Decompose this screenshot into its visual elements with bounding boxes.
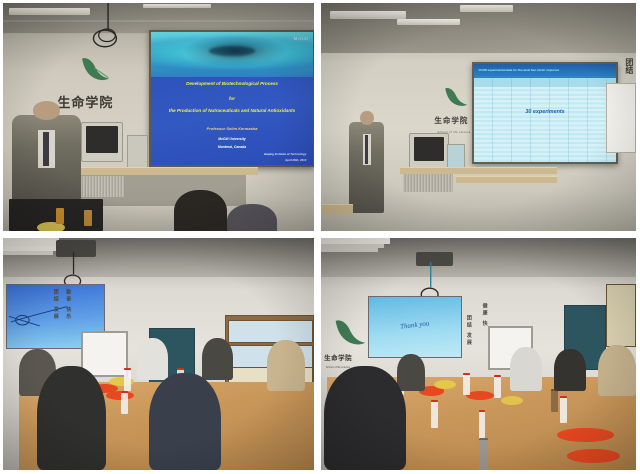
slide-title-line2: for [151,96,313,102]
foreground-participant [37,366,105,470]
wall-sign-chinese: 生命学院 [434,115,468,126]
front-table [59,167,258,175]
ceiling-lamp [321,248,378,252]
ceiling-lamp [460,5,514,12]
wall-banner-left: 团结 发展 [466,315,473,347]
hanging-cable [78,3,134,76]
seated-participant [554,349,586,391]
water-bottle [560,396,567,424]
projection-screen-title-slide: McGill Development of Biotechnological P… [149,30,314,166]
drink-bottle [56,208,64,224]
water-bottle [124,368,131,391]
lecturer-head [360,111,374,126]
ceiling [321,238,636,277]
wall-sign-chinese: 生命学院 [57,92,113,111]
front-table [400,167,558,174]
school-bird-logo [327,317,371,349]
water-bottle [121,391,128,414]
photo-meeting-room-thank-you: Thank you 生命学院 School of life science 健康… [321,238,636,470]
lecturer-figure [349,122,384,213]
fruit-plate [501,396,523,405]
slide-thank-you-text: Thank you [369,316,461,335]
ceiling [3,238,314,277]
water-bottle [463,373,470,396]
collage-panel-bottom-left: 勤奋 快乐 团结 发展 [0,234,317,474]
ceiling-lamp [143,4,211,9]
foreground-participant [324,366,406,470]
whiteboard [606,83,636,153]
water-bottle [494,375,501,398]
collage-panel-bottom-right: Thank you 生命学院 School of life science 健康… [317,234,640,474]
slide-location: Montreal, Canada [151,145,313,149]
ceiling-lamp [3,251,53,255]
seated-participant [202,338,233,380]
side-desk [321,204,353,214]
slide-date: April 26th, 2013 [285,158,306,162]
audience-member [174,190,227,231]
wall-banner-right: 勤奋 快乐 [65,289,72,321]
audience-member [227,204,277,231]
radiator [403,174,453,192]
foreground-participant [149,373,221,470]
slide-ripple-graphic [151,32,313,77]
seated-participant [137,338,168,380]
wall-banner-left: 团结 发展 [53,289,60,321]
wall-poster [606,284,636,346]
ceiling-lamp [330,11,406,19]
lecturer-tie [365,135,368,164]
ceiling-lamp [3,238,59,246]
collage-panel-top-left: 生命学院 School of life science McGill Devel… [0,0,317,234]
photo-lecture-title-slide: 生命学院 School of life science McGill Devel… [3,3,314,231]
photo-lecture-data-slide: 生命学院 School of life science CCRD experim… [321,3,636,231]
slide-title-line3: the Production of Nutraceuticals and Nat… [151,108,313,114]
school-bird-logo [441,85,469,110]
ceiling [321,3,636,53]
seated-participant [598,345,636,396]
seated-participant [510,347,542,391]
thermos [479,438,488,470]
slide-title-line1: Development of Biotechnological Process [151,81,313,87]
slide-venue: Beijing Institute of Technology [264,152,306,156]
slide-header-text: CCRD experimental data for five-level fo… [478,68,559,72]
mcgill-logo: McGill [294,36,308,41]
ceiling [3,3,314,33]
crt-monitor [81,122,123,163]
thermos [551,389,558,412]
wall-sign-english: School of life science [326,366,350,369]
projection-screen-data-slide: CCRD experimental data for five-level fo… [472,62,618,164]
ceiling-lamp [397,19,460,25]
fruit-plate [434,380,456,389]
wall-sign-chinese: 生命学院 [324,352,352,362]
water-bottle [431,400,438,428]
slide-callout: 30 experiments [474,109,616,115]
projection-screen-thank-you: Thank you [368,296,461,358]
photo-collage: 生命学院 School of life science McGill Devel… [0,0,640,474]
drink-bottle [84,210,92,226]
ceiling-tile [3,20,314,22]
lecturer-figure [12,115,80,211]
water-bottle [479,410,486,440]
seated-participant [397,354,425,391]
seated-participant [267,340,304,391]
wall-banner-right: 健康 快 [482,303,489,328]
front-table-second [456,176,557,183]
table-column-lines [474,78,616,162]
crt-monitor [409,133,449,169]
lecturer-head [33,101,60,119]
photo-meeting-room-discussion: 勤奋 快乐 团结 发展 [3,238,314,470]
snack-bowl [567,449,621,463]
cabinet-shelf [228,320,314,343]
collage-panel-top-right: 生命学院 School of life science CCRD experim… [317,0,640,234]
slide-presenter: Professor Selim Kermasha [151,126,313,131]
slide-header-bar: CCRD experimental data for five-level fo… [474,64,616,78]
slide-affiliation: McGill University [151,137,313,141]
lecturer-tie [43,132,48,166]
wall-banner-chinese: 团结 [624,58,632,74]
